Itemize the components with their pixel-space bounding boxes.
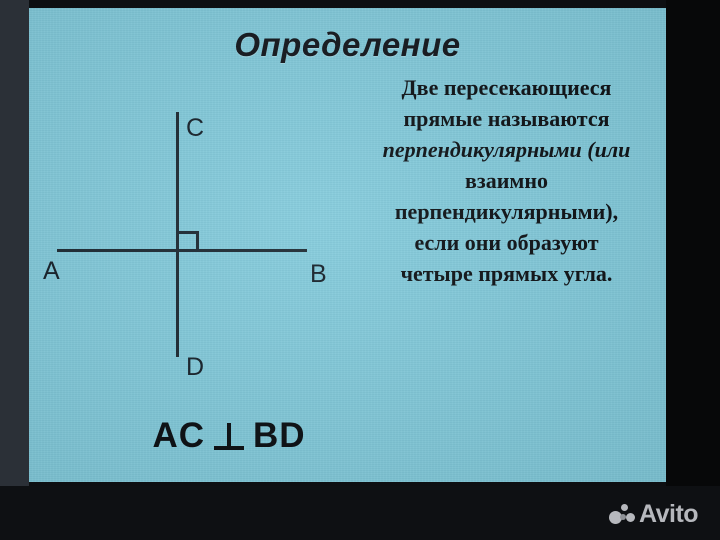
presentation-slide: Определение Две пересекающиеся прямые на…: [29, 8, 666, 482]
definition-line: перпендикулярными),: [354, 196, 659, 227]
geometry-figure: C D A B: [29, 8, 369, 408]
definition-line: четыре прямых угла.: [354, 258, 659, 289]
formula-right-segment: BD: [253, 416, 306, 456]
avito-dots-icon: [609, 504, 635, 526]
right-angle-marker-icon: [179, 231, 199, 252]
point-label-d: D: [186, 353, 204, 382]
screenshot-root: Определение Две пересекающиеся прямые на…: [0, 0, 720, 540]
definition-line: Две пересекающиеся: [354, 72, 659, 103]
avito-brand-label: Avito: [639, 500, 698, 529]
formula-left-segment: AC: [152, 416, 205, 456]
point-label-a: A: [43, 257, 60, 286]
definition-text-block: Две пересекающиеся прямые называются пер…: [354, 72, 659, 289]
formula-ac-perp-bd: AC BD: [29, 416, 429, 456]
perpendicular-icon: [214, 421, 244, 451]
avito-watermark: Avito: [609, 500, 698, 529]
definition-line: если они образуют: [354, 227, 659, 258]
monitor-bezel-left: [0, 0, 29, 486]
point-label-c: C: [186, 114, 204, 143]
definition-line: взаимно: [354, 165, 659, 196]
point-label-b: B: [310, 260, 327, 289]
definition-line: прямые называются: [354, 103, 659, 134]
definition-line: перпендикулярными (или: [354, 134, 659, 165]
monitor-bezel-right: [666, 0, 720, 486]
